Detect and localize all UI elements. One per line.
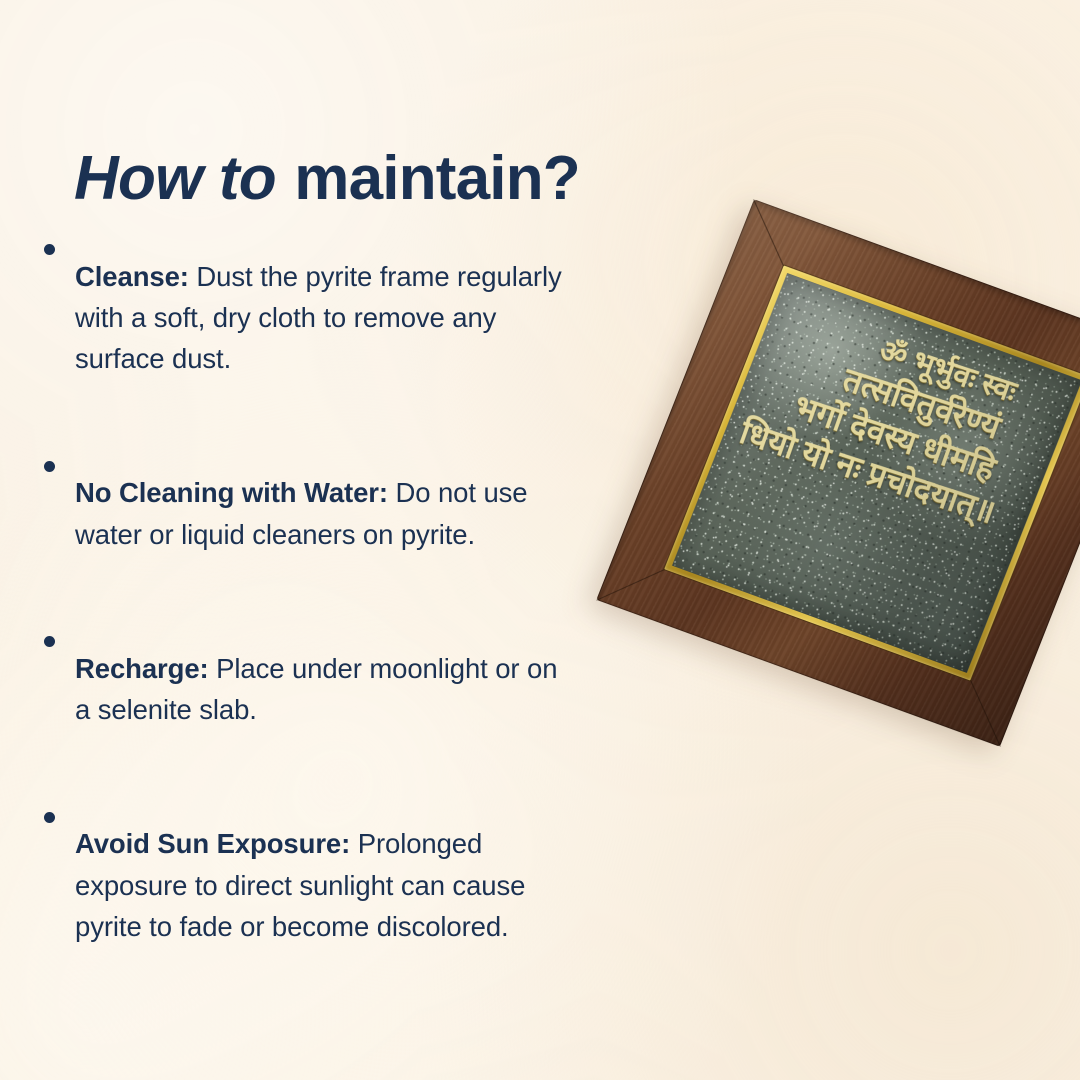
list-item-lead: Avoid Sun Exposure: — [75, 828, 350, 859]
list-item-lead: Cleanse: — [75, 261, 189, 292]
page-title-italic: How to — [74, 144, 276, 213]
miter-seam-top-left — [753, 199, 787, 273]
list-item-text: Avoid Sun Exposure: Prolonged exposure t… — [75, 823, 574, 947]
bullet-dot-icon — [44, 461, 55, 472]
maintenance-care-poster: How to maintain? Cleanse: Dust the pyrit… — [0, 0, 1080, 1080]
list-item-lead: Recharge: — [75, 653, 209, 684]
list-item: Recharge: Place under moonlight or on a … — [44, 620, 574, 758]
list-item: No Cleaning with Water: Do not use water… — [44, 445, 574, 583]
page-title: How to maintain? — [74, 146, 580, 211]
miter-seam-bottom-left — [596, 566, 672, 601]
bullet-dot-icon — [44, 244, 55, 255]
list-item-lead: No Cleaning with Water: — [75, 477, 388, 508]
bullet-dot-icon — [44, 812, 55, 823]
list-item-text: Recharge: Place under moonlight or on a … — [75, 648, 574, 731]
list-item: Avoid Sun Exposure: Prolonged exposure t… — [44, 796, 574, 975]
product-image-gayatri-pyrite-frame: ॐ भूर्भुवः स्वः तत्सवितुर्वरेण्यं भर्गो … — [596, 199, 1080, 747]
bullet-dot-icon — [44, 636, 55, 647]
page-title-regular: maintain? — [294, 144, 580, 213]
miter-seam-bottom-right — [967, 673, 1001, 747]
list-item: Cleanse: Dust the pyrite frame regularly… — [44, 228, 574, 407]
care-instructions-list: Cleanse: Dust the pyrite frame regularly… — [44, 228, 574, 1013]
list-item-text: No Cleaning with Water: Do not use water… — [75, 472, 574, 555]
list-item-text: Cleanse: Dust the pyrite frame regularly… — [75, 256, 574, 380]
